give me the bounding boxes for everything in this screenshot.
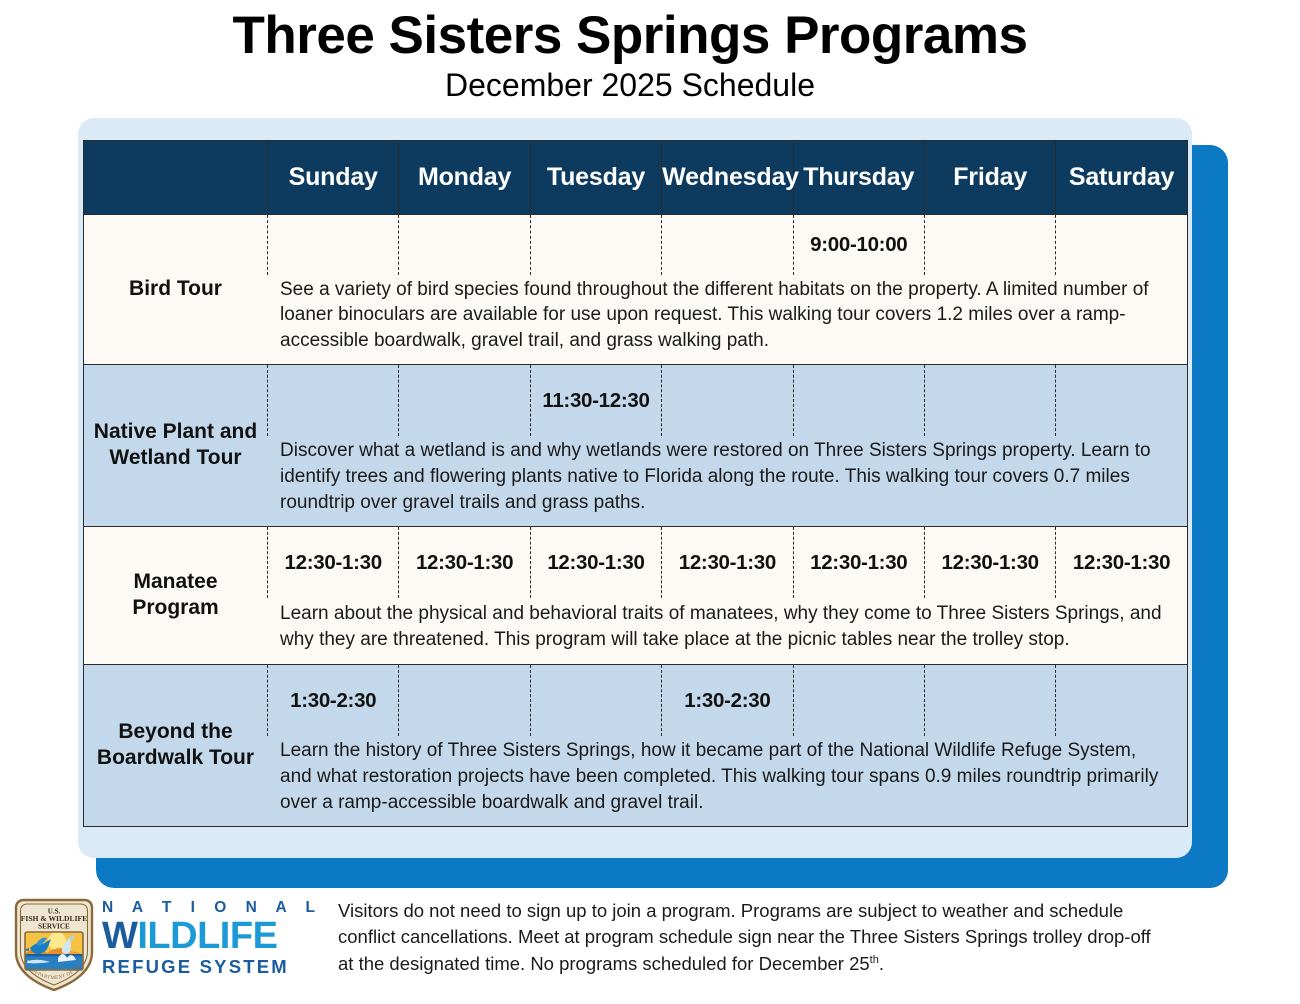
column-header-friday: Friday <box>924 141 1055 215</box>
program-name-manatee-program: Manatee Program <box>84 526 268 664</box>
wordmark-life: LIFE <box>197 915 277 957</box>
description-manatee-program: Learn about the physical and behavioral … <box>268 598 1188 664</box>
slot-manatee-saturday: 12:30-1:30 <box>1056 526 1187 598</box>
title-block: Three Sisters Springs Programs December … <box>0 8 1260 105</box>
program-name-native-plant-and-wetland-tour: Native Plant and Wetland Tour <box>84 364 268 526</box>
slot-manatee-friday: 12:30-1:30 <box>924 526 1055 598</box>
slot-native-plant-thursday <box>793 364 924 436</box>
slot-bird-tour-thursday: 9:00-10:00 <box>793 215 924 275</box>
slot-native-plant-friday <box>924 364 1055 436</box>
page-subtitle: December 2025 Schedule <box>0 66 1260 104</box>
program-name-beyond-the-boardwalk-tour: Beyond the Boardwalk Tour <box>84 664 268 826</box>
table-body: Bird Tour 9:00-10:00 See a variety of bi… <box>84 215 1188 827</box>
table-row-times: Bird Tour 9:00-10:00 <box>84 215 1188 275</box>
column-header-monday: Monday <box>399 141 530 215</box>
footer-note-period: . <box>879 953 884 974</box>
slot-bird-tour-wednesday <box>662 215 793 275</box>
slot-beyond-boardwalk-friday <box>924 664 1055 736</box>
slot-manatee-tuesday: 12:30-1:30 <box>530 526 661 598</box>
footer-note-main: Visitors do not need to sign up to join … <box>338 900 1151 974</box>
slot-manatee-thursday: 12:30-1:30 <box>793 526 924 598</box>
wordmark-ild: ILD <box>137 915 197 957</box>
footer: U.S. FISH & WILDLIFE SERVICE <box>0 880 1300 1004</box>
description-bird-tour: See a variety of bird species found thro… <box>268 275 1188 365</box>
slot-manatee-wednesday: 12:30-1:30 <box>662 526 793 598</box>
table-head: Sunday Monday Tuesday Wednesday Thursday… <box>84 141 1188 215</box>
svg-text:SERVICE: SERVICE <box>38 923 70 931</box>
column-header-saturday: Saturday <box>1056 141 1187 215</box>
poster-page: Three Sisters Springs Programs December … <box>0 0 1300 1004</box>
slot-beyond-boardwalk-thursday <box>793 664 924 736</box>
footer-disclaimer-text: Visitors do not need to sign up to join … <box>338 898 1168 977</box>
wordmark-line-national: N A T I O N A L <box>102 900 332 916</box>
nwrs-logo: U.S. FISH & WILDLIFE SERVICE <box>6 892 328 996</box>
slot-manatee-monday: 12:30-1:30 <box>399 526 530 598</box>
slot-native-plant-saturday <box>1056 364 1187 436</box>
column-header-thursday: Thursday <box>793 141 924 215</box>
wordmark-line-refuge-system: REFUGE SYSTEM <box>102 958 332 977</box>
slot-manatee-sunday: 12:30-1:30 <box>268 526 399 598</box>
slot-beyond-boardwalk-monday <box>399 664 530 736</box>
slot-native-plant-tuesday: 11:30-12:30 <box>530 364 661 436</box>
table-corner-cell <box>84 141 268 215</box>
table-row-times: Beyond the Boardwalk Tour 1:30-2:30 1:30… <box>84 664 1188 736</box>
slot-bird-tour-sunday <box>268 215 399 275</box>
description-beyond-the-boardwalk-tour: Learn the history of Three Sisters Sprin… <box>268 736 1188 826</box>
header-row: Sunday Monday Tuesday Wednesday Thursday… <box>84 141 1188 215</box>
slot-bird-tour-saturday <box>1056 215 1187 275</box>
nwrs-wordmark: N A T I O N A L WILDLIFE REFUGE SYSTEM <box>102 900 332 976</box>
program-name-bird-tour: Bird Tour <box>84 215 268 365</box>
column-header-sunday: Sunday <box>268 141 399 215</box>
table-row-times: Native Plant and Wetland Tour 11:30-12:3… <box>84 364 1188 436</box>
wordmark-w: W <box>102 915 137 957</box>
footer-note-ordinal-suffix: th <box>870 953 879 965</box>
wordmark-line-wildlife: WILDLIFE <box>102 918 332 955</box>
usfws-shield-icon: U.S. FISH & WILDLIFE SERVICE <box>10 894 98 999</box>
slot-bird-tour-monday <box>399 215 530 275</box>
slot-bird-tour-tuesday <box>530 215 661 275</box>
slot-bird-tour-friday <box>924 215 1055 275</box>
slot-beyond-boardwalk-tuesday <box>530 664 661 736</box>
slot-beyond-boardwalk-saturday <box>1056 664 1187 736</box>
slot-beyond-boardwalk-wednesday: 1:30-2:30 <box>662 664 793 736</box>
column-header-wednesday: Wednesday <box>662 141 793 215</box>
table-row-times: Manatee Program 12:30-1:30 12:30-1:30 12… <box>84 526 1188 598</box>
slot-native-plant-wednesday <box>662 364 793 436</box>
slot-native-plant-sunday <box>268 364 399 436</box>
description-native-plant-and-wetland-tour: Discover what a wetland is and why wetla… <box>268 436 1188 526</box>
slot-native-plant-monday <box>399 364 530 436</box>
page-title: Three Sisters Springs Programs <box>0 8 1260 64</box>
column-header-tuesday: Tuesday <box>530 141 661 215</box>
slot-beyond-boardwalk-sunday: 1:30-2:30 <box>268 664 399 736</box>
program-schedule-table: Sunday Monday Tuesday Wednesday Thursday… <box>83 140 1188 827</box>
